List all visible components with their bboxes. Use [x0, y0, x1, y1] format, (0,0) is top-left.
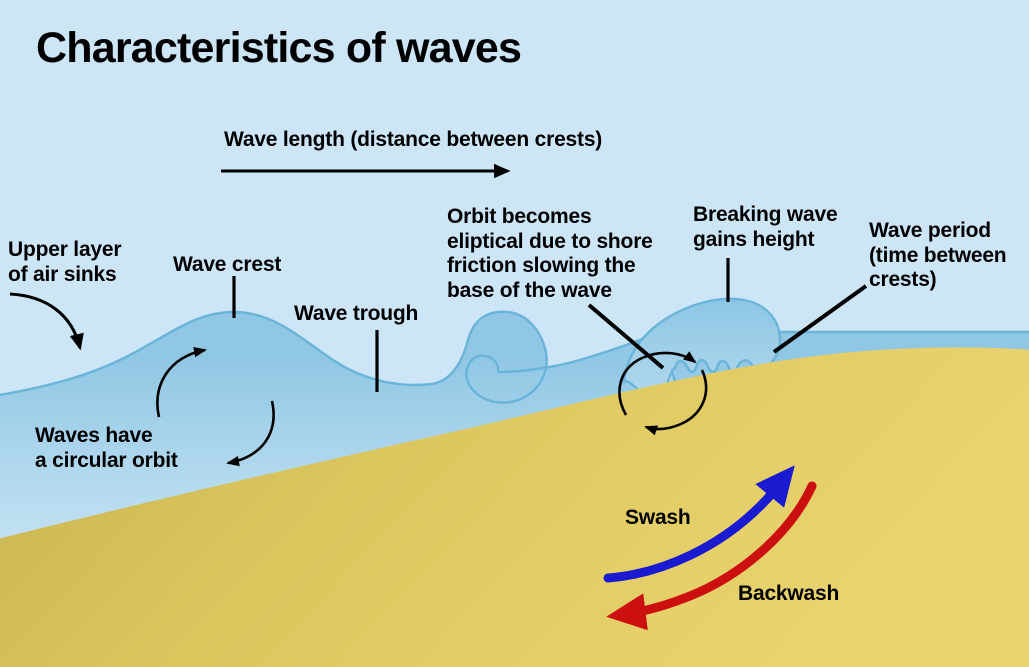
label-orbit-becomes-eliptical: Orbit becomes eliptical due to shore fri… — [447, 205, 653, 303]
label-swash: Swash — [625, 506, 691, 531]
wave-diagram-illustration — [0, 0, 1029, 667]
label-wave-trough: Wave trough — [294, 302, 418, 327]
label-wave-crest: Wave crest — [173, 253, 281, 278]
label-wave-period: Wave period (time between crests) — [869, 219, 1006, 293]
page-title: Characteristics of waves — [36, 26, 521, 71]
wave-diagram-canvas: Characteristics of waves Wave length (di… — [0, 0, 1029, 667]
label-backwash: Backwash — [738, 582, 839, 607]
label-upper-layer-of-air-sinks: Upper layer of air sinks — [8, 238, 121, 287]
label-wave-length: Wave length (distance between crests) — [224, 128, 602, 153]
label-waves-have-a-circular-orbit: Waves have a circular orbit — [35, 424, 178, 473]
label-breaking-wave-gains-height: Breaking wave gains height — [693, 203, 837, 252]
